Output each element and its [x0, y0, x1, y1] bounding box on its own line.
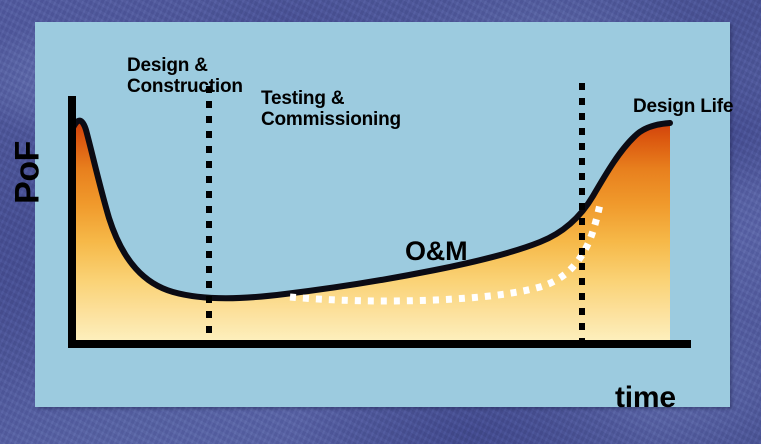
x-axis-label: time — [615, 381, 676, 415]
label-testing-commissioning: Testing & Commissioning — [261, 88, 401, 131]
y-axis-label: PoF — [9, 118, 48, 228]
label-design-construction: Design & Construction — [127, 55, 243, 98]
figure-canvas: Design & Construction Testing & Commissi… — [0, 0, 761, 444]
label-design-life: Design Life — [633, 96, 733, 117]
label-om: O&M — [405, 236, 467, 266]
chart-panel: Design & Construction Testing & Commissi… — [35, 22, 730, 407]
